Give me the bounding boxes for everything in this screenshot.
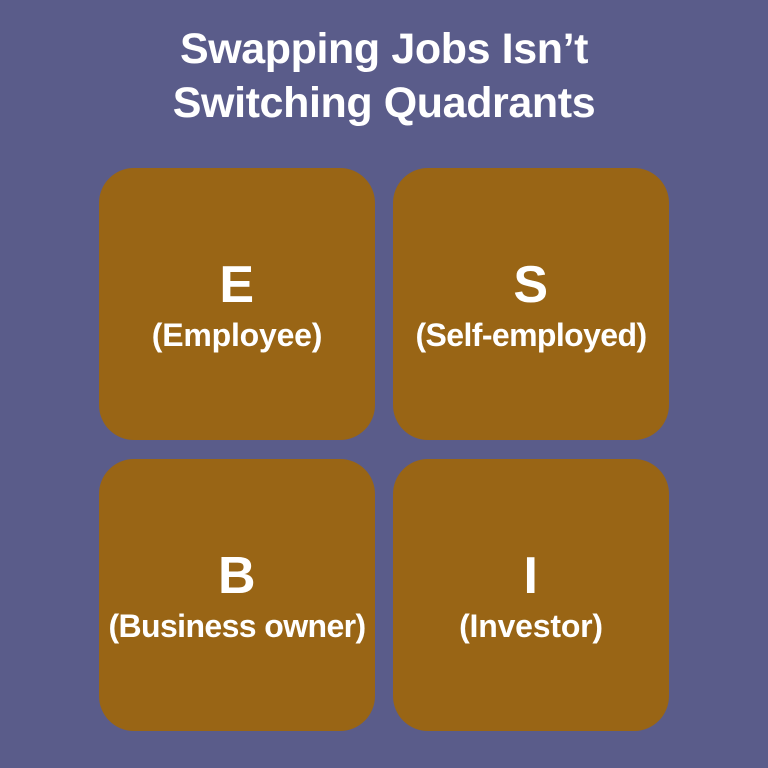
quadrant-letter-b: B xyxy=(218,550,256,602)
quadrant-letter-i: I xyxy=(524,550,539,602)
quadrant-business-owner: B (Business owner) xyxy=(99,459,375,731)
quadrant-investor: I (Investor) xyxy=(393,459,669,731)
quadrant-employee: E (Employee) xyxy=(99,168,375,440)
page-title-line-1: Swapping Jobs Isn’t xyxy=(0,22,768,76)
quadrant-label-employee: (Employee) xyxy=(152,318,323,354)
page-title: Swapping Jobs Isn’t Switching Quadrants xyxy=(0,22,768,130)
quadrant-label-self-employed: (Self-employed) xyxy=(415,318,646,354)
quadrant-self-employed: S (Self-employed) xyxy=(393,168,669,440)
quadrant-letter-e: E xyxy=(219,259,254,311)
quadrant-grid: E (Employee) S (Self-employed) B (Busine… xyxy=(99,168,669,731)
quadrant-letter-s: S xyxy=(513,259,548,311)
page-title-line-2: Switching Quadrants xyxy=(0,76,768,130)
quadrant-label-investor: (Investor) xyxy=(459,609,603,645)
quadrant-infographic: Swapping Jobs Isn’t Switching Quadrants … xyxy=(0,0,768,768)
quadrant-label-business-owner: (Business owner) xyxy=(108,609,365,645)
